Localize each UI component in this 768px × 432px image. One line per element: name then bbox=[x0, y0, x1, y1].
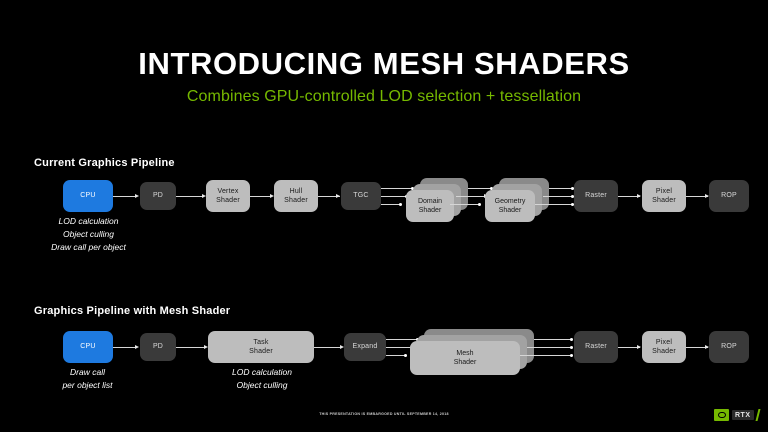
rtx-wordmark: RTX bbox=[732, 410, 754, 420]
nvidia-eye-icon bbox=[714, 409, 729, 421]
node-geometry-shader-label: Geometry Shader bbox=[485, 190, 535, 222]
connector-dot-tgc-domain-3 bbox=[399, 203, 402, 206]
connector-mesh-raster-3 bbox=[520, 355, 572, 356]
node-domain-shader-stack[interactable]: Domain Shader bbox=[406, 178, 468, 226]
node-raster-current[interactable]: Raster bbox=[574, 180, 618, 212]
connector-pd-vertex bbox=[176, 196, 204, 197]
arrowhead-cpu-pd bbox=[135, 194, 139, 198]
node-tgc[interactable]: TGC bbox=[341, 182, 381, 210]
slide-canvas: INTRODUCING MESH SHADERS Combines GPU-co… bbox=[0, 0, 768, 432]
node-raster-mesh[interactable]: Raster bbox=[574, 331, 618, 363]
connector-cpu-pd bbox=[113, 196, 137, 197]
node-geometry-shader-stack[interactable]: Geometry Shader bbox=[485, 178, 549, 226]
connector-pd-task bbox=[176, 347, 206, 348]
connector-dot-domain-geometry-3 bbox=[478, 203, 481, 206]
node-cpu-current[interactable]: CPU bbox=[63, 180, 113, 212]
node-pixel-shader-current[interactable]: Pixel Shader bbox=[642, 180, 686, 212]
connector-dot-mesh-raster-1 bbox=[570, 338, 573, 341]
node-mesh-shader-stack[interactable]: Mesh Shader bbox=[410, 329, 534, 379]
page-subtitle: Combines GPU-controlled LOD selection + … bbox=[0, 88, 768, 106]
node-rop-current[interactable]: ROP bbox=[709, 180, 749, 212]
node-pd-mesh[interactable]: PD bbox=[140, 333, 176, 361]
page-title: INTRODUCING MESH SHADERS bbox=[0, 48, 768, 81]
section-heading-current-pipeline: Current Graphics Pipeline bbox=[34, 157, 175, 169]
node-expand[interactable]: Expand bbox=[344, 333, 386, 361]
section-heading-mesh-pipeline: Graphics Pipeline with Mesh Shader bbox=[34, 305, 230, 317]
connector-dot-expand-mesh-3 bbox=[404, 354, 407, 357]
caption-task-shader: LOD calculation Object culling bbox=[206, 366, 318, 392]
arrowhead-hull-tgc bbox=[336, 194, 340, 198]
connector-geometry-raster-3 bbox=[535, 204, 573, 205]
connector-domain-geometry-2 bbox=[456, 196, 486, 197]
node-vertex-shader[interactable]: Vertex Shader bbox=[206, 180, 250, 212]
connector-mesh-raster-2 bbox=[527, 347, 572, 348]
connector-geometry-raster-1 bbox=[549, 188, 573, 189]
node-pixel-shader-mesh[interactable]: Pixel Shader bbox=[642, 331, 686, 363]
connector-geometry-raster-2 bbox=[543, 196, 573, 197]
connector-mesh-raster-1 bbox=[534, 339, 572, 340]
connector-vertex-hull bbox=[250, 196, 272, 197]
connector-dot-mesh-raster-2 bbox=[570, 346, 573, 349]
nvidia-rtx-logo: RTX bbox=[714, 408, 758, 422]
node-rop-mesh[interactable]: ROP bbox=[709, 331, 749, 363]
node-hull-shader[interactable]: Hull Shader bbox=[274, 180, 318, 212]
caption-cpu-mesh: Draw call per object list bbox=[35, 366, 140, 392]
connector-expand-mesh-2 bbox=[386, 347, 412, 348]
connector-task-expand bbox=[314, 347, 342, 348]
connector-dot-mesh-raster-3 bbox=[570, 354, 573, 357]
node-mesh-shader-label: Mesh Shader bbox=[410, 341, 520, 375]
arrowhead-cpu-pd-mesh bbox=[135, 345, 139, 349]
node-task-shader[interactable]: Task Shader bbox=[208, 331, 314, 363]
connector-cpu-pd-mesh bbox=[113, 347, 137, 348]
connector-domain-geometry-3 bbox=[450, 204, 480, 205]
node-pd-current[interactable]: PD bbox=[140, 182, 176, 210]
connector-tgc-domain-3 bbox=[381, 204, 401, 205]
connector-tgc-domain-2 bbox=[381, 196, 407, 197]
title-block: INTRODUCING MESH SHADERS Combines GPU-co… bbox=[0, 48, 768, 106]
node-cpu-mesh[interactable]: CPU bbox=[63, 331, 113, 363]
embargo-note: THIS PRESENTATION IS EMBARGOED UNTIL SEP… bbox=[0, 412, 768, 416]
node-domain-shader-label: Domain Shader bbox=[406, 190, 454, 222]
arrowhead-raster-pixel bbox=[637, 194, 641, 198]
caption-cpu-current: LOD calculation Object culling Draw call… bbox=[26, 215, 151, 253]
connector-expand-mesh-3 bbox=[386, 355, 406, 356]
arrowhead-raster-pixel-mesh bbox=[637, 345, 641, 349]
